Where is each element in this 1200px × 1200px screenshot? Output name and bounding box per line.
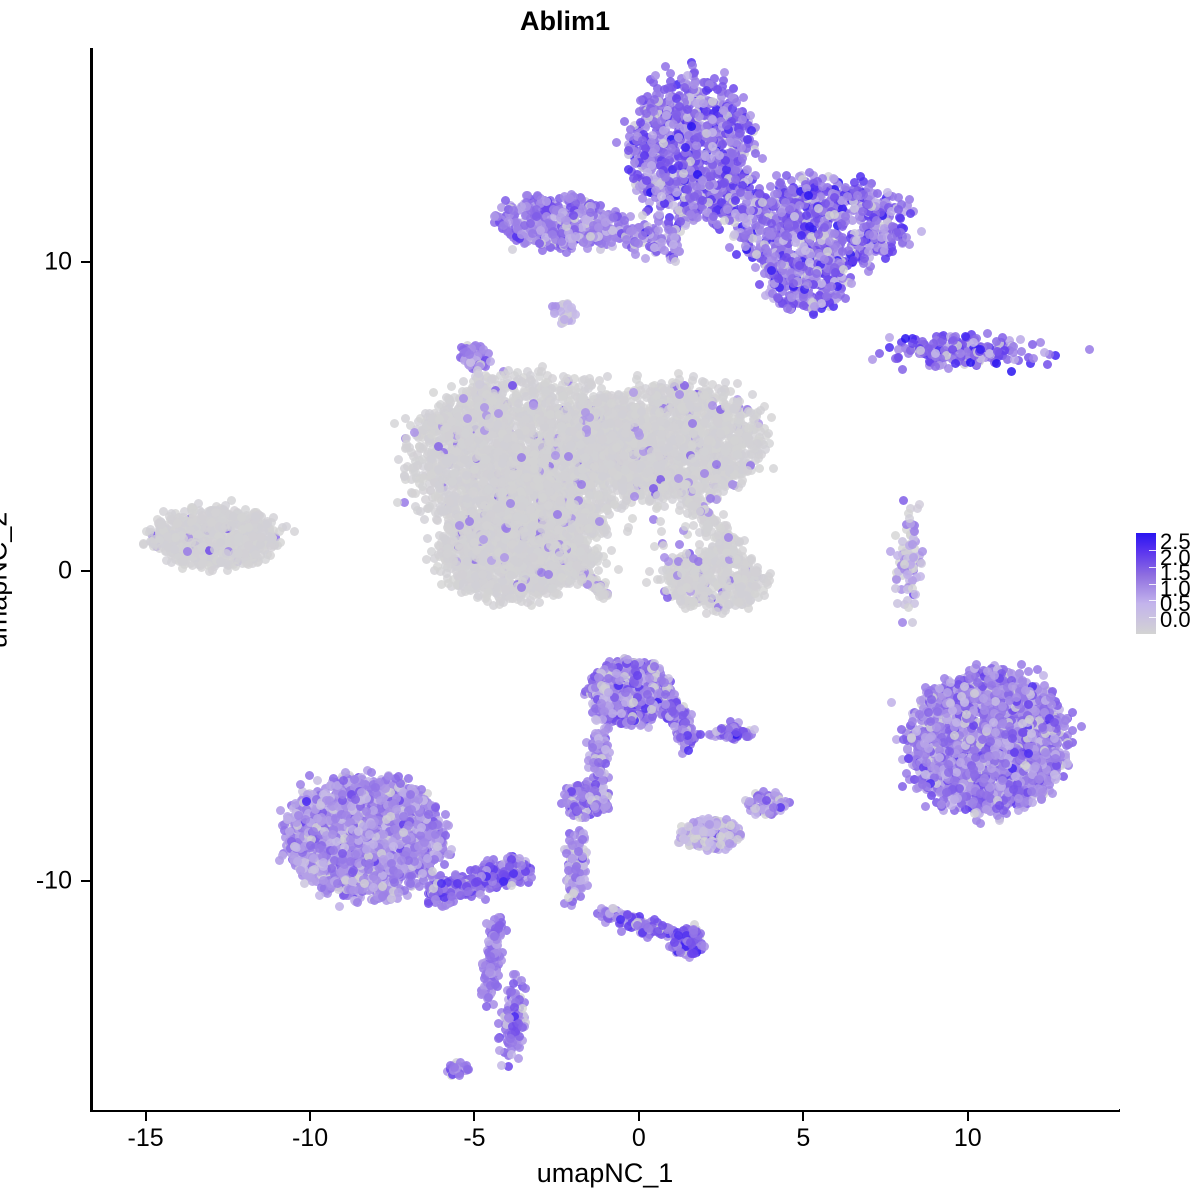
legend-tick-mark: [1149, 567, 1156, 568]
legend-tick-mark: [1149, 617, 1156, 618]
x-tick-label: -15: [128, 1124, 164, 1153]
plot-panel: [93, 48, 1119, 1110]
x-tick-mark: [802, 1112, 804, 1121]
x-tick-label: -5: [463, 1124, 485, 1153]
y-tick-label: 10: [44, 247, 72, 276]
x-axis-title: umapNC_1: [90, 1158, 1120, 1189]
y-tick-label: -10: [36, 866, 72, 895]
y-axis-title: umapNC_2: [0, 512, 14, 649]
x-tick-label: 5: [796, 1124, 810, 1153]
scatter-points-layer: [93, 48, 1119, 1110]
x-tick-label: 0: [632, 1124, 646, 1153]
legend-label: 0.0: [1160, 609, 1191, 631]
page-title: Ablim1: [0, 6, 1130, 37]
x-tick-mark: [145, 1112, 147, 1121]
x-tick-label: 10: [954, 1124, 982, 1153]
legend-gradient-bar: [1136, 533, 1156, 634]
x-tick-label: -10: [292, 1124, 328, 1153]
y-tick-mark: [81, 880, 90, 882]
y-tick-label: 0: [58, 557, 72, 586]
legend-tick-mark: [1149, 584, 1156, 585]
legend-colorbar: 2.52.01.51.00.50.0: [1136, 533, 1200, 637]
x-tick-mark: [473, 1112, 475, 1121]
y-tick-mark: [81, 570, 90, 572]
x-tick-mark: [309, 1112, 311, 1121]
x-tick-mark: [967, 1112, 969, 1121]
y-tick-mark: [81, 261, 90, 263]
x-tick-mark: [638, 1112, 640, 1121]
legend-tick-labels: 2.52.01.51.00.50.0: [1160, 533, 1200, 634]
legend-tick-mark: [1149, 550, 1156, 551]
legend-tick-mark: [1149, 600, 1156, 601]
